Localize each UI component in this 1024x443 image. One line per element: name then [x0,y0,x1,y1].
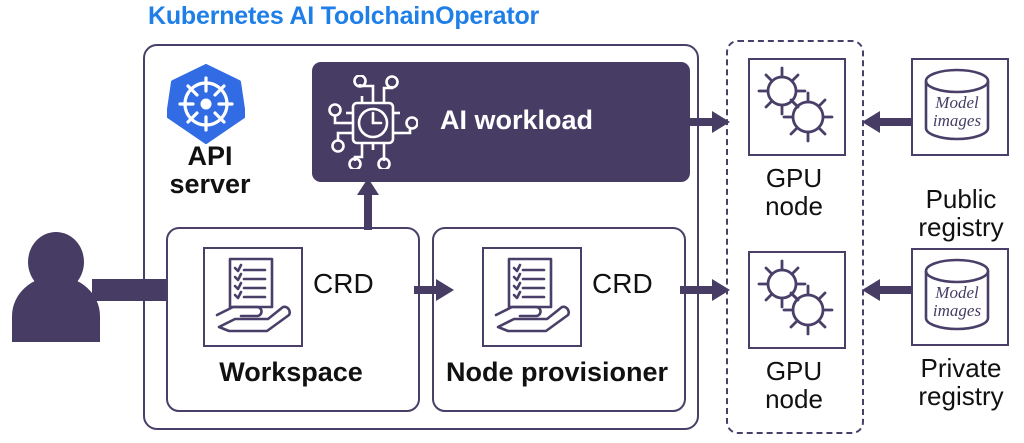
page-title: Kubernetes AI ToolchainOperator [148,2,539,31]
diagram-canvas: Kubernetes AI ToolchainOperator [0,0,1024,443]
crd-label-node-provisioner: CRD [592,268,653,300]
crd-label-workspace: CRD [313,268,374,300]
crd-hand-document-icon-frame-workspace [203,247,303,347]
public-registry-label: Public registry [898,186,1024,241]
arrow-node-provisioner-to-gpu-node-2 [680,279,730,301]
arrow-public-registry-to-gpu-node-1 [862,111,912,133]
gpu-node-1-label: GPU node [736,165,852,220]
ai-workload-label: AI workload [440,105,593,136]
crd-hand-document-icon [484,249,575,340]
arrow-ai-workload-to-gpu-node-1 [688,111,730,133]
svg-text:Model: Model [934,283,979,302]
crd-hand-document-icon-frame-node-provisioner [482,247,582,347]
user-icon [8,232,104,342]
crd-hand-document-icon [205,249,296,340]
gpu-node-2-label: GPU node [736,358,852,413]
svg-text:Model: Model [934,93,979,112]
database-cylinder-icon: Model images [913,60,1002,149]
workspace-label: Workspace [166,358,416,386]
svg-text:images: images [933,301,982,320]
arrow-workspace-to-node-provisioner [414,279,454,301]
gpu-gears-icon [750,60,839,149]
database-cylinder-icon: Model images [913,250,1002,339]
private-registry-icon-frame: Model images [911,248,1009,346]
arrow-workspace-to-ai-workload [356,178,380,230]
api-server-label: API server [150,142,270,198]
public-registry-icon-frame: Model images [911,58,1009,156]
arrow-private-registry-to-gpu-node-2 [862,279,912,301]
gpu-node-1-icon-frame [748,58,846,156]
gpu-node-2-icon-frame [748,251,846,349]
gpu-gears-icon [750,253,839,342]
ai-chip-clock-icon [322,75,418,169]
svg-text:images: images [933,111,982,130]
node-provisioner-label: Node provisioner [432,358,682,386]
kubernetes-logo-icon [167,64,245,144]
private-registry-label: Private registry [898,355,1024,410]
